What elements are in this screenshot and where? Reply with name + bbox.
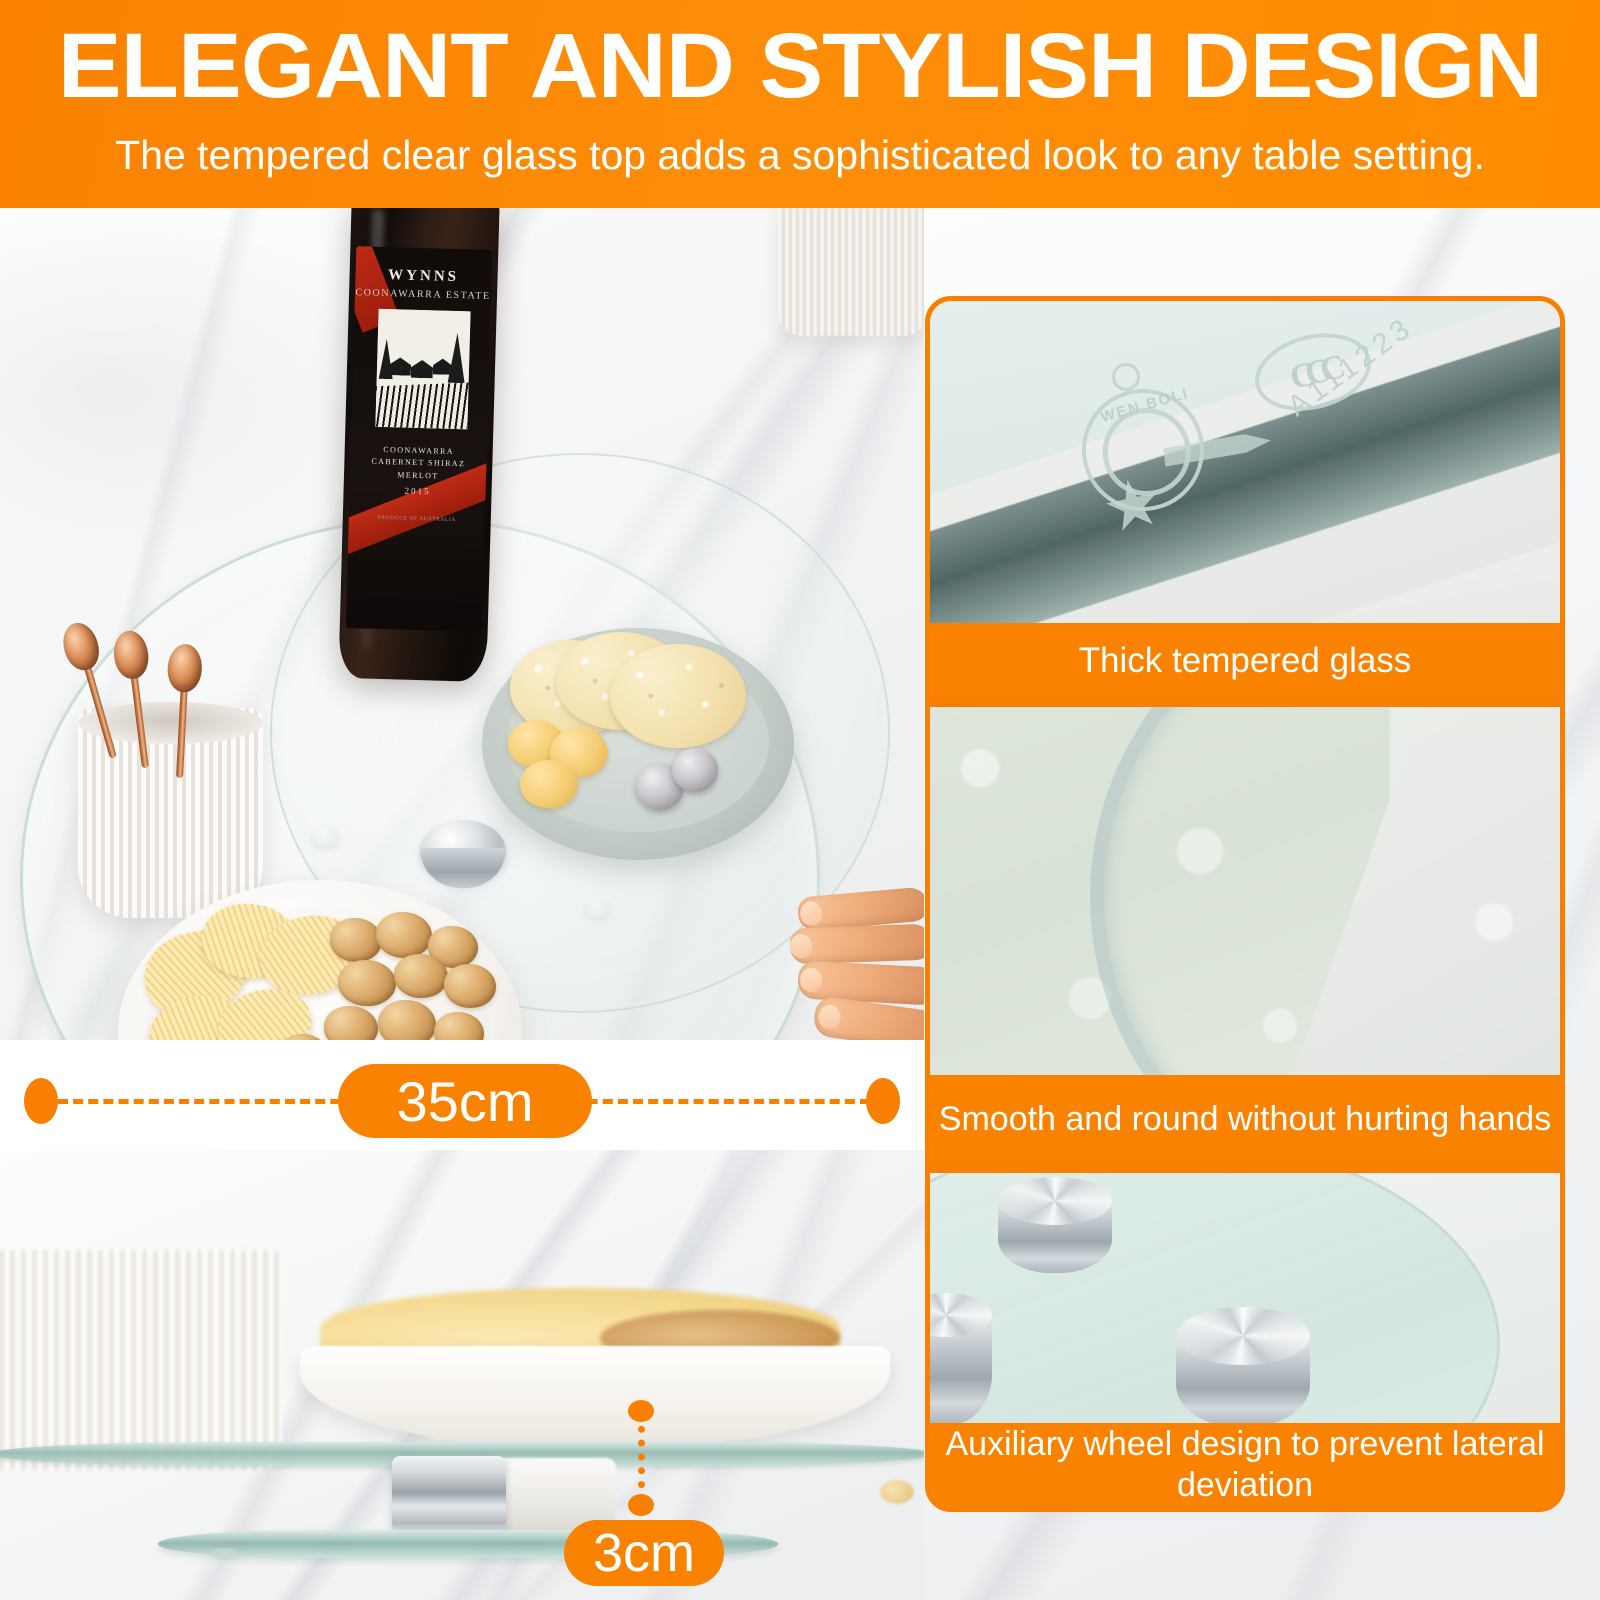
hero-photo: WYNNS COONAWARRA ESTATE COONAWARRA CABER…: [0, 208, 924, 1040]
rice-cracker: [610, 644, 746, 748]
feature-panel-auxiliary-wheel: Auxiliary wheel design to prevent latera…: [925, 1168, 1565, 1512]
ribbed-vase: [778, 208, 924, 336]
aluminium-stud: [420, 820, 506, 882]
thickness-badge: 3cm: [564, 1520, 724, 1586]
panel-caption-thick-tempered-glass: Thick tempered glass: [930, 623, 1560, 697]
walnuts-group: [316, 908, 516, 1040]
auxiliary-wheel-top: [998, 1177, 1112, 1225]
product-infographic-poster: ELEGANT AND STYLISH DESIGN The tempered …: [0, 0, 1600, 1600]
measure-dotted-line: [638, 1412, 645, 1502]
page-subtitle: The tempered clear glass top adds a soph…: [20, 130, 1580, 180]
wheel-closeup: [930, 1173, 1560, 1423]
measure-endpoint-top: [628, 1400, 654, 1422]
hand-on-glass: [768, 884, 924, 1040]
panel-photo-smooth-edge: [930, 707, 1560, 1075]
wine-label: WYNNS COONAWARRA ESTATE COONAWARRA CABER…: [346, 246, 493, 632]
powdered-truffle: [672, 748, 718, 792]
chrome-bearing-hub: [392, 1456, 506, 1532]
panel-caption-smooth-round-edge: Smooth and round without hurting hands: [930, 1075, 1560, 1163]
crumb: [880, 1480, 914, 1504]
copper-spoon: [162, 653, 202, 779]
panel-photo-tempered-glass: WEN BOLI A111223: [930, 301, 1560, 623]
diameter-badge: 35cm: [338, 1064, 592, 1138]
aluminium-stud: [312, 826, 340, 846]
panel-caption-auxiliary-wheel: Auxiliary wheel design to prevent latera…: [930, 1423, 1560, 1507]
aluminium-stud: [585, 898, 611, 917]
feature-panel-thick-tempered-glass: WEN BOLI A111223 Thick tempered glass: [925, 296, 1565, 702]
feature-panels: WEN BOLI A111223 Thick tempered glass Sm…: [925, 296, 1565, 1512]
diameter-measure: 35cm: [0, 1040, 924, 1160]
wine-varietal: CABERNET SHIRAZ MERLOT: [350, 454, 487, 484]
thickness-measure: 3cm: [500, 1390, 800, 1600]
wine-label-illustration: [375, 309, 470, 430]
measure-endpoint-left: [24, 1078, 58, 1124]
header-banner: ELEGANT AND STYLISH DESIGN The tempered …: [0, 0, 1600, 208]
panel-photo-auxiliary-wheel: [930, 1173, 1560, 1423]
glass-surface: WEN BOLI A111223: [930, 301, 1560, 623]
ribbed-cup: [0, 1250, 282, 1470]
page-title: ELEGANT AND STYLISH DESIGN: [0, 18, 1600, 114]
measure-endpoint-bottom: [628, 1494, 654, 1516]
feature-panel-smooth-round-edge: Smooth and round without hurting hands: [925, 702, 1565, 1168]
registered-mark-icon: [1112, 363, 1140, 391]
glass-foot: [212, 1548, 238, 1560]
wine-bottle: WYNNS COONAWARRA ESTATE COONAWARRA CABER…: [338, 208, 499, 682]
measure-endpoint-right: [866, 1078, 900, 1124]
auxiliary-wheel-top: [1176, 1307, 1310, 1365]
vanilla-cookie: [520, 760, 578, 808]
glass-edge-closeup: [930, 707, 1560, 1075]
